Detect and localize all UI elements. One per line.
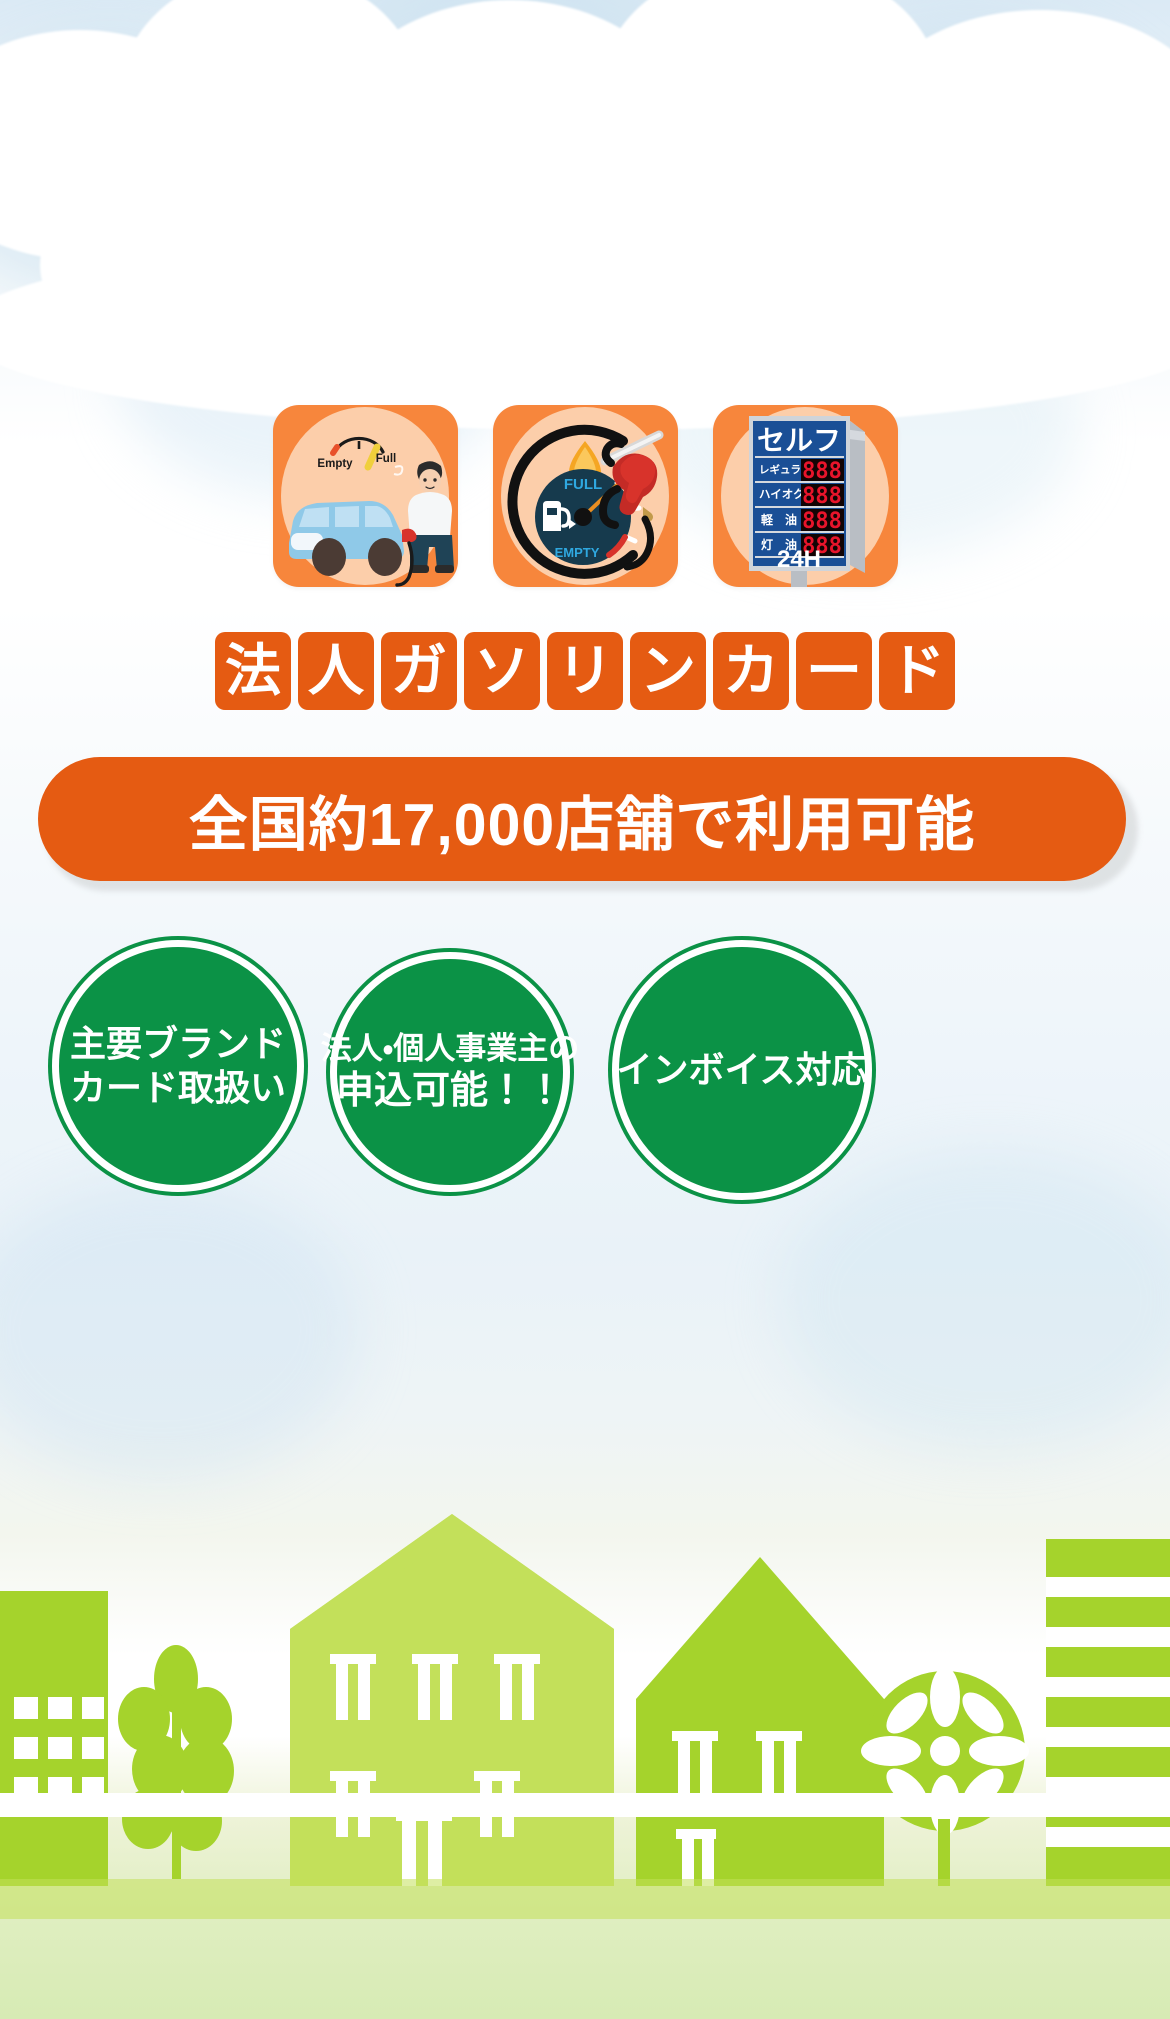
feature-line: カード取扱い [70,1066,286,1110]
svg-text:Empty: Empty [317,458,353,470]
page-title: 法 人 ガ ソ リ ン カ ー ド [0,632,1170,710]
svg-text:888: 888 [802,459,842,484]
pill-body: 全国約17,000店舗で利用可能 [38,757,1126,881]
svg-text:FULL: FULL [563,476,601,493]
feature-circle-corporate-sole-proprietor: 法人・個人事業主の 申込可能！！ [330,952,570,1192]
building-right [1046,1539,1170,1886]
feature-line: 法人・個人事業主の [321,1030,580,1068]
title-char: ー [796,632,872,710]
title-char: ガ [381,632,457,710]
house-second [636,1557,884,1886]
tree-right [861,1667,1029,1886]
title-char: リ [547,632,623,710]
svg-text:EMPTY: EMPTY [554,545,599,560]
svg-text:ハイオク: ハイオク [759,487,805,501]
feature-line: インボイス対応 [617,1048,868,1092]
icon-tile-row: Empty Full [0,405,1170,587]
svg-text:Full: Full [375,453,395,465]
feature-line: 主要ブランド [70,1022,286,1066]
title-char: 人 [298,632,374,710]
svg-text:888: 888 [802,509,842,534]
title-char: ド [879,632,955,710]
feature-line: 申込可能！！ [336,1068,564,1114]
house-main-windows [330,1654,540,1886]
store-count-banner: 全国約17,000店舗で利用可能 [38,757,1132,887]
feature-circle-major-brand-cards: 主要ブランド カード取扱い [52,940,304,1192]
title-char: ソ [464,632,540,710]
title-char: ン [630,632,706,710]
title-char: 法 [215,632,291,710]
svg-text:888: 888 [802,484,842,509]
svg-text:軽 油: 軽 油 [761,512,797,527]
icon-tile-car-refueling: Empty Full [273,405,458,587]
svg-text:セルフ: セルフ [756,424,840,457]
bottom-white-band [0,1793,1170,1817]
tree-left [118,1645,234,1879]
fuel-gauge-nozzle-icon: FULL EMPTY [493,405,678,587]
icon-tile-fuel-gauge: FULL EMPTY [493,405,678,587]
building-left [0,1591,108,1886]
banner-stage: Empty Full [0,0,1170,2019]
title-char: カ [713,632,789,710]
feature-circle-invoice-support: インボイス対応 [612,940,872,1200]
house-main [290,1514,614,1886]
gas-price-sign-icon: セルフ レギュラー 888 ハイオク 888 軽 油 888 灯 油 [713,405,898,587]
icon-tile-price-sign: セルフ レギュラー 888 ハイオク 888 軽 油 888 灯 油 [713,405,898,587]
car-refueling-icon: Empty Full [273,405,458,587]
svg-text:24H: 24H [776,546,820,573]
pill-label: 全国約17,000店舗で利用可能 [189,777,975,862]
